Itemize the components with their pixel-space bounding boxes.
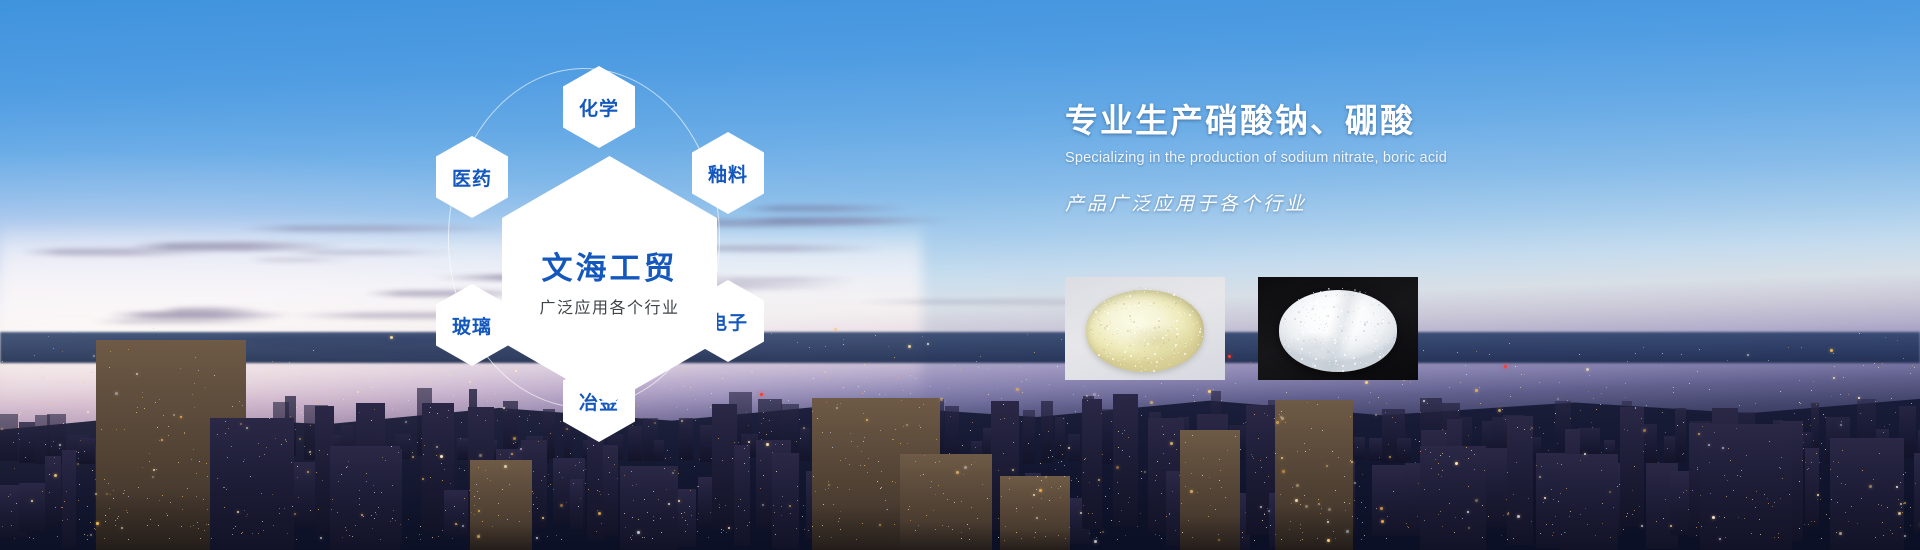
hex-label-glass: 玻璃 (452, 312, 492, 339)
headline-block: 专业生产硝酸钠、硼酸 Specializing in the productio… (1065, 100, 1845, 216)
headline-chinese: 专业生产硝酸钠、硼酸 (1065, 100, 1845, 141)
headline-english: Specializing in the production of sodium… (1065, 150, 1845, 166)
powder-speckle-white (1258, 277, 1418, 380)
brand-name: 文海工贸 (542, 243, 678, 288)
river-band (0, 332, 1920, 362)
product-photo-strip (1065, 277, 1418, 380)
promo-banner: 化学 釉料 电子 冶金 玻璃 医药 文海工贸 广泛应用各个行业 专业生产硝酸钠、… (0, 0, 1920, 550)
hex-label-glaze: 釉料 (708, 160, 748, 187)
hex-label-medicine: 医药 (452, 164, 492, 191)
city-skyline (0, 297, 1920, 550)
subheadline: 产品广泛应用于各个行业 (1065, 189, 1845, 216)
powder-speckle-cream (1065, 277, 1225, 380)
brand-tagline: 广泛应用各个行业 (539, 294, 679, 318)
product-photo-boric-acid[interactable] (1258, 277, 1418, 380)
hex-label-chemistry: 化学 (579, 94, 619, 121)
product-photo-sodium-nitrate[interactable] (1065, 277, 1225, 380)
industry-hex-diagram: 化学 釉料 电子 冶金 玻璃 医药 文海工贸 广泛应用各个行业 (430, 28, 790, 448)
